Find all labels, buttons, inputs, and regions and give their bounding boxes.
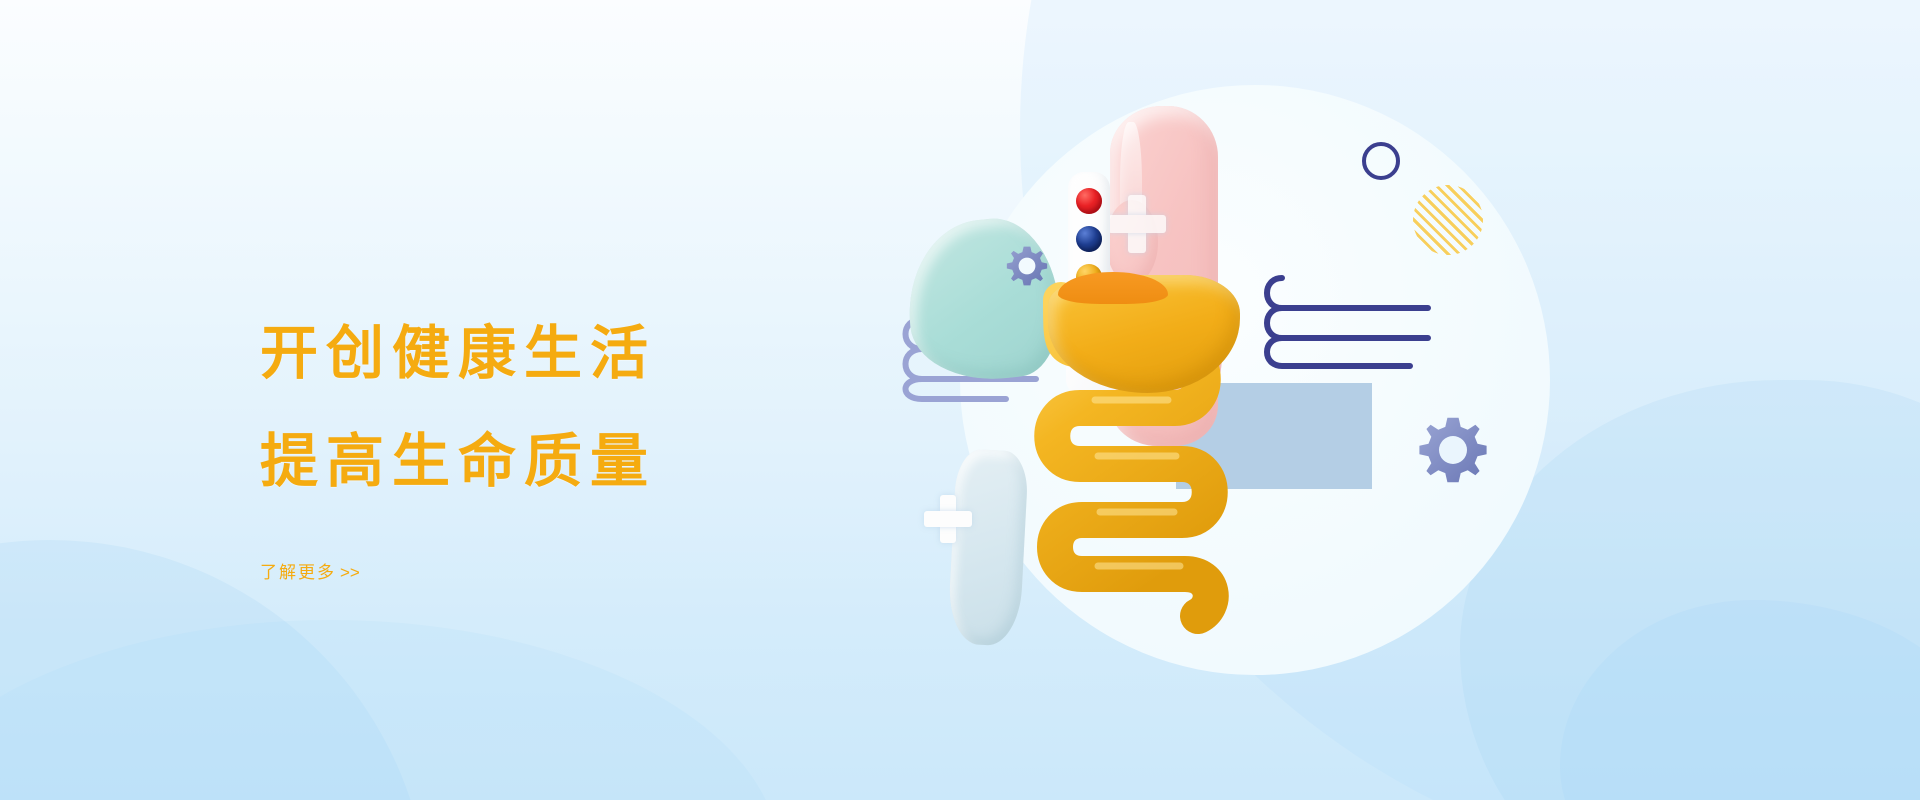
intestine-shape: [930, 50, 1570, 750]
learn-more-label: 了解更多: [260, 563, 336, 582]
headline-line-2: 提高生命质量: [260, 408, 780, 516]
learn-more-link[interactable]: 了解更多>>: [260, 558, 360, 583]
medical-cross-icon-bottom: [924, 495, 972, 543]
hero-copy-block: 开创健康生活 提高生命质量 了解更多>>: [260, 300, 780, 583]
headline-line-1: 开创健康生活: [260, 300, 780, 408]
gear-large-icon: [1418, 415, 1488, 485]
digestive-system-illustration: [930, 50, 1570, 750]
health-hero-banner: 开创健康生活 提高生命质量 了解更多>>: [0, 0, 1920, 800]
chevron-right-icon: >>: [340, 563, 360, 582]
